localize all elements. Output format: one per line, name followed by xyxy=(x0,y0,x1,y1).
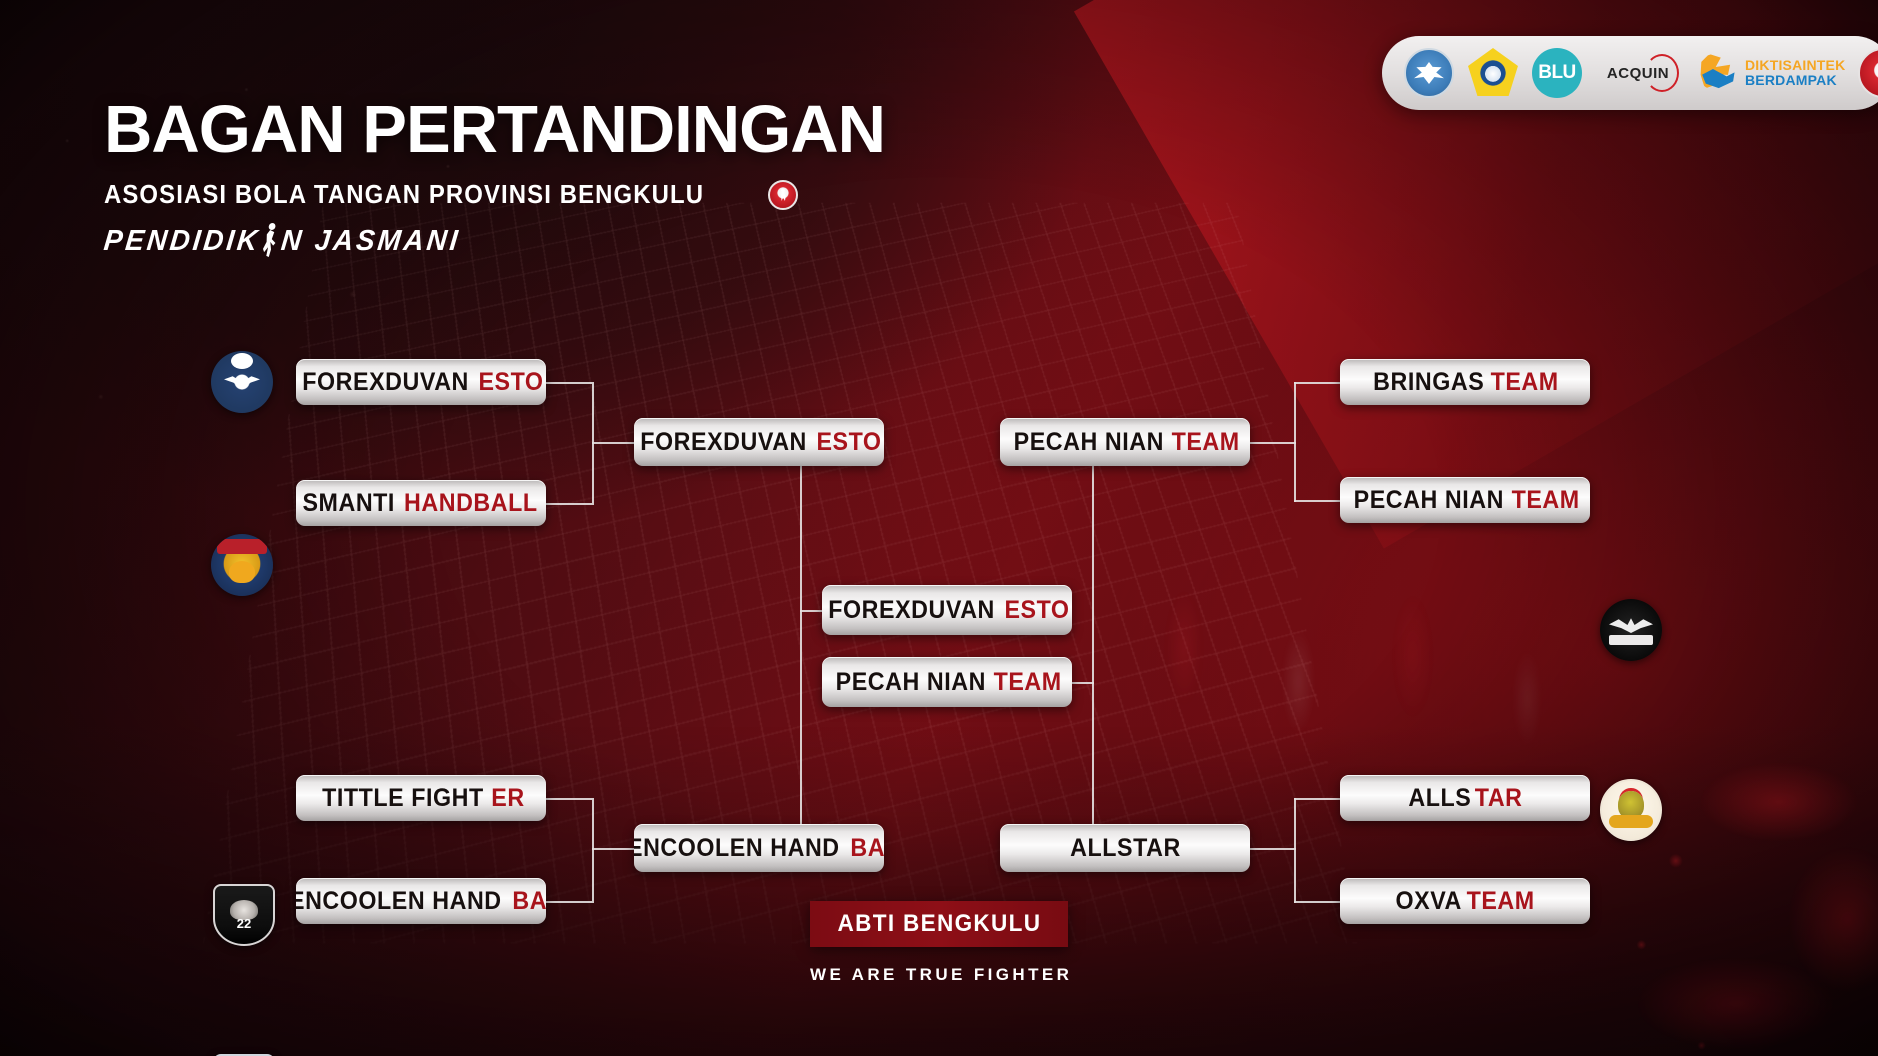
match-slot-left-sf-1[interactable]: FOREXDUVANESTO xyxy=(634,418,884,466)
sponsor-acquin: ACQUIN xyxy=(1595,50,1681,96)
team-name-red: HANDBALL xyxy=(404,489,538,518)
organizer-name: ABTI BENGKULU xyxy=(837,910,1041,938)
match-slot-left-r1-3[interactable]: TITTLE FIGHTER xyxy=(296,775,546,821)
abti-icon xyxy=(1858,48,1878,98)
subtitle-row: ASOSIASI BOLA TANGAN PROVINSI BENGKULU xyxy=(104,179,885,210)
team-name-dark: PECAH NIAN xyxy=(1353,486,1503,515)
connector xyxy=(1294,798,1296,903)
match-slot-right-r1-2[interactable]: PECAH NIAN TEAM xyxy=(1340,477,1590,523)
team-name-dark: FOREXDUVAN xyxy=(829,596,996,625)
sponsor-logo-bar: BLU ACQUIN DIKTISAINTEK BERDAMPAK xyxy=(1382,36,1878,110)
team-name-red: ESTO xyxy=(816,428,881,457)
blu-icon: BLU xyxy=(1532,48,1582,98)
team-name-red: TEAM xyxy=(1512,486,1580,515)
sponsor-abti xyxy=(1858,48,1878,98)
program-label: PENDIDIK N JASMANI xyxy=(102,224,855,258)
team-name-red: TEAM xyxy=(994,668,1062,697)
team-name-red: TEAM xyxy=(1467,887,1535,916)
match-slot-left-sf-2[interactable]: BENCOOLEN HANDBALL xyxy=(634,824,884,872)
match-slot-right-r1-4[interactable]: OXVA TEAM xyxy=(1340,878,1590,924)
match-slot-right-sf-1[interactable]: PECAH NIAN TEAM xyxy=(1000,418,1250,466)
match-slot-left-r1-1[interactable]: FOREXDUVANESTO xyxy=(296,359,546,405)
runner-icon xyxy=(260,223,281,257)
page-subtitle: ASOSIASI BOLA TANGAN PROVINSI BENGKULU xyxy=(104,179,704,210)
match-slot-right-r1-3[interactable]: ALLSTAR xyxy=(1340,775,1590,821)
connector xyxy=(546,503,592,505)
sponsor-tut-wuri-handayani xyxy=(1404,48,1454,98)
team-name-red: TEAM xyxy=(1172,428,1240,457)
diktisaintek-line2: BERDAMPAK xyxy=(1745,73,1845,88)
tut-wuri-handayani-icon xyxy=(1404,48,1454,98)
connector xyxy=(1294,798,1340,800)
match-slot-right-r1-1[interactable]: BRINGAS TEAM xyxy=(1340,359,1590,405)
team-name-dark: FOREXDUVAN xyxy=(641,428,808,457)
diktisaintek-label: DIKTISAINTEK BERDAMPAK xyxy=(1745,58,1845,87)
connector xyxy=(1092,442,1094,848)
connector xyxy=(1294,500,1340,502)
sponsor-universitas-bengkulu xyxy=(1467,48,1519,98)
team-name-red: ESTO xyxy=(478,368,543,397)
abti-logo-icon xyxy=(768,180,798,210)
program-label-post: N JASMANI xyxy=(279,225,462,258)
sponsor-diktisaintek: DIKTISAINTEK BERDAMPAK xyxy=(1694,52,1845,94)
program-label-pre: PENDIDIK xyxy=(102,225,262,258)
team-logo-forexduvanesto xyxy=(211,351,273,413)
team-name-dark: ALLSTAR xyxy=(1070,834,1181,863)
connector xyxy=(546,901,592,903)
team-name-dark: TITTLE FIGHT xyxy=(322,784,484,813)
match-slot-final-2[interactable]: PECAH NIAN TEAM xyxy=(822,657,1072,707)
acquin-arc-icon xyxy=(1645,54,1679,92)
diktisaintek-icon xyxy=(1694,52,1738,94)
match-slot-left-r1-4[interactable]: BENCOOLEN HANDBALL xyxy=(296,878,546,924)
organizer-banner: ABTI BENGKULU xyxy=(810,901,1068,947)
team-name-dark: ALLS xyxy=(1408,784,1471,813)
connector xyxy=(592,442,634,444)
team-name-dark: BENCOOLEN HAND xyxy=(634,834,839,863)
team-name-dark: SMANTI xyxy=(303,489,395,518)
connector xyxy=(1294,382,1340,384)
team-name-dark: FOREXDUVAN xyxy=(303,368,470,397)
team-logo-smanti-handball xyxy=(211,534,273,596)
match-slot-left-r1-2[interactable]: SMANTI HANDBALL xyxy=(296,480,546,526)
team-name-red: ESTO xyxy=(1004,596,1069,625)
connector xyxy=(800,610,822,612)
team-logo-tittle-fighter xyxy=(213,884,275,946)
connector xyxy=(592,848,634,850)
team-name-dark: BRINGAS xyxy=(1373,368,1484,397)
sponsor-blu: BLU xyxy=(1532,48,1582,98)
team-name-dark: PECAH NIAN xyxy=(835,668,985,697)
connector xyxy=(800,442,802,848)
match-slot-right-sf-2[interactable]: ALLSTAR xyxy=(1000,824,1250,872)
connector xyxy=(592,798,594,903)
universitas-bengkulu-icon xyxy=(1467,48,1519,98)
team-name-red: TEAM xyxy=(1491,368,1559,397)
match-slot-final-1[interactable]: FOREXDUVANESTO xyxy=(822,585,1072,635)
poster-header: BAGAN PERTANDINGAN ASOSIASI BOLA TANGAN … xyxy=(104,96,885,258)
team-logo-bringas-team xyxy=(1600,599,1662,661)
connector xyxy=(1070,682,1094,684)
connector xyxy=(1294,901,1340,903)
team-name-red: BALL xyxy=(851,834,884,863)
tournament-bracket-poster: BAGAN PERTANDINGAN ASOSIASI BOLA TANGAN … xyxy=(0,0,1878,1056)
team-name-dark: BENCOOLEN HAND xyxy=(296,887,501,916)
team-name-red: TAR xyxy=(1475,784,1523,813)
page-title: BAGAN PERTANDINGAN xyxy=(104,96,885,163)
team-name-red: BALL xyxy=(513,887,546,916)
team-name-dark: OXVA xyxy=(1395,887,1461,916)
connector xyxy=(546,382,592,384)
team-name-red: ER xyxy=(491,784,524,813)
connector xyxy=(1250,848,1296,850)
tagline: WE ARE TRUE FIGHTER xyxy=(810,965,1068,985)
connector xyxy=(546,798,592,800)
team-logo-pecah-nian-team xyxy=(1600,779,1662,841)
connector xyxy=(1250,442,1296,444)
diktisaintek-line1: DIKTISAINTEK xyxy=(1745,58,1845,73)
team-name-dark: PECAH NIAN xyxy=(1013,428,1163,457)
